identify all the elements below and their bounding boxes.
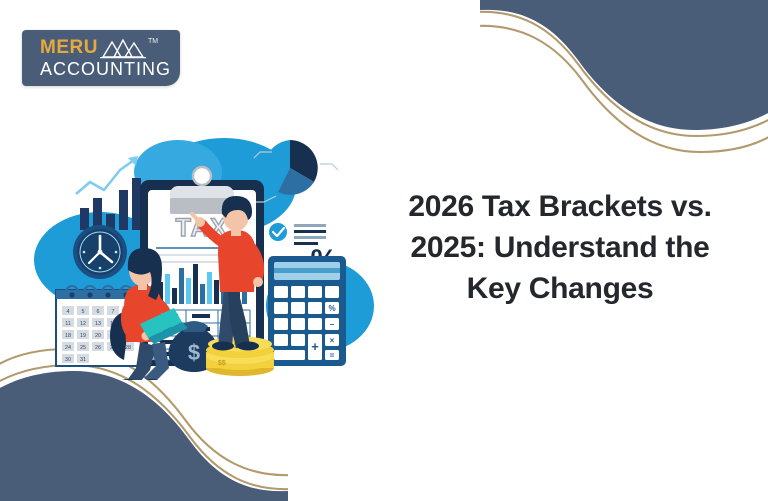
document-lines (294, 224, 326, 245)
svg-text:$$: $$ (218, 360, 226, 367)
svg-text:30: 30 (65, 357, 71, 363)
calculator: % − × = + (268, 256, 346, 366)
svg-text:11: 11 (65, 321, 71, 327)
logo-word-accounting: ACCOUNTING (40, 59, 171, 79)
wave-shape-navy (480, 0, 768, 130)
calculator-key-percent: % (328, 304, 335, 313)
svg-text:5: 5 (82, 309, 85, 315)
calculator-key-times: × (330, 336, 335, 345)
tax-finance-illustration: 456 78 111213 1415 181920 2122 242526 27… (28, 120, 378, 380)
calculator-key-plus: + (311, 339, 319, 354)
svg-text:6: 6 (97, 309, 100, 315)
svg-text:20: 20 (95, 333, 101, 339)
svg-text:12: 12 (80, 321, 86, 327)
svg-text:26: 26 (95, 345, 101, 351)
top-right-wave (480, 0, 768, 178)
wave-gold-line-2 (480, 26, 768, 152)
svg-text:24: 24 (65, 345, 71, 351)
wave-gold-line-1 (0, 365, 288, 489)
check-badge (269, 223, 287, 241)
brand-logo[interactable]: MERU TM ACCOUNTING (22, 30, 180, 86)
svg-text:4: 4 (67, 309, 70, 315)
svg-text:31: 31 (80, 357, 86, 363)
page-title: 2026 Tax Brackets vs. 2025: Understand t… (386, 186, 734, 309)
money-bag-dollar-sign: $ (188, 340, 200, 365)
svg-text:18: 18 (65, 333, 71, 339)
logo-word-meru: MERU (40, 38, 98, 58)
wave-shape-navy (0, 371, 288, 501)
svg-text:13: 13 (95, 321, 101, 327)
svg-text:25: 25 (80, 345, 86, 351)
calculator-key-minus: − (330, 320, 335, 329)
wall-clock (73, 225, 127, 279)
svg-text:19: 19 (80, 333, 86, 339)
svg-text:7: 7 (112, 309, 115, 315)
svg-text:28: 28 (125, 345, 131, 351)
trademark-symbol: TM (148, 38, 158, 46)
calculator-key-equals: = (330, 351, 335, 360)
poster-canvas: MERU TM ACCOUNTING 2026 Tax Brackets vs.… (0, 0, 768, 501)
wave-gold-line-1 (480, 12, 768, 136)
